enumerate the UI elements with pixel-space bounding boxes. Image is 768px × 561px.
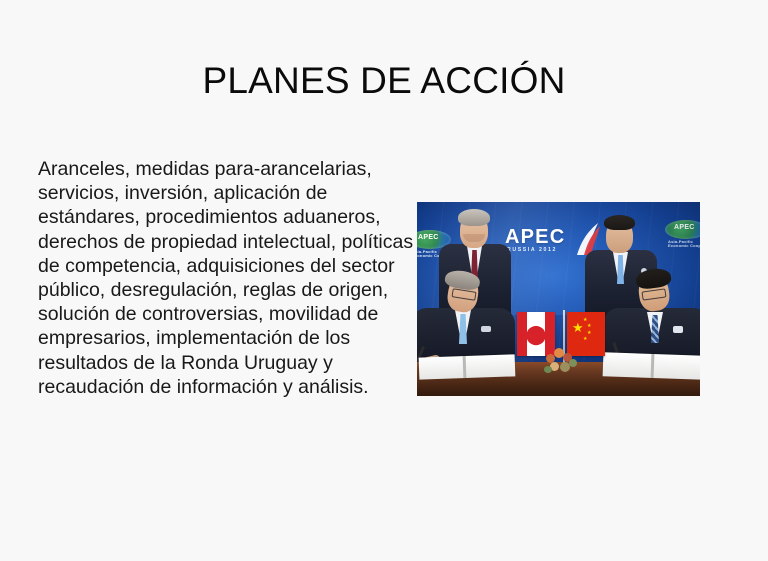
- apec-signing-photo: APEC RUSSIA 2012 APEC Asia-Pacific Econo…: [417, 202, 700, 396]
- star-icon: ★: [572, 321, 584, 334]
- signing-document-left: [419, 354, 516, 379]
- star-icon: ★: [583, 337, 587, 342]
- presentation-slide: PLANES DE ACCIÓN Aranceles, medidas para…: [0, 0, 768, 561]
- star-icon: ★: [587, 331, 591, 336]
- star-icon: ★: [587, 324, 591, 329]
- body-paragraph: Aranceles, medidas para-arancelarias, se…: [38, 157, 418, 399]
- maple-leaf-icon: ⬤: [525, 325, 546, 344]
- flower-arrangement: [544, 344, 582, 374]
- page-title: PLANES DE ACCIÓN: [0, 59, 768, 103]
